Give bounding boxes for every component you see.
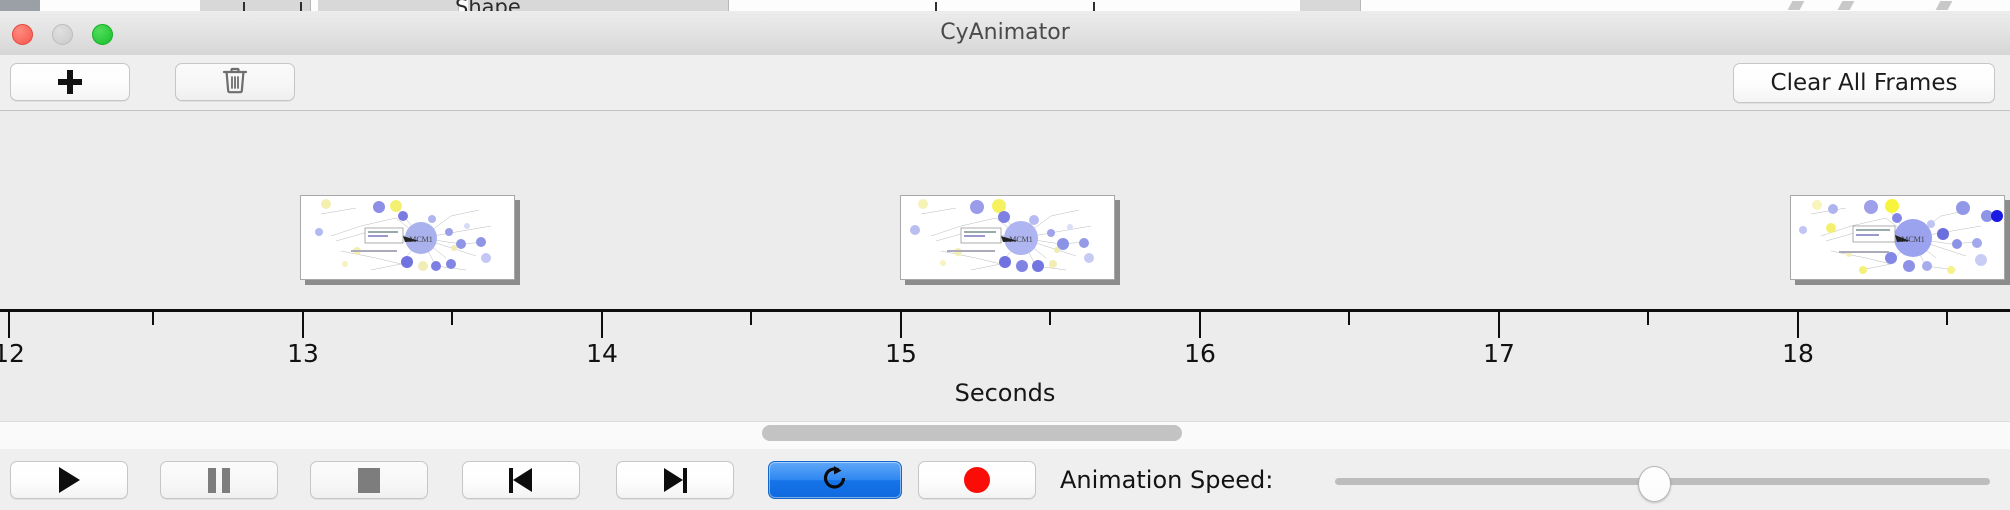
- axis-tick-minor: [1647, 312, 1649, 325]
- stop-button[interactable]: [310, 461, 428, 499]
- axis-tick-minor: [1348, 312, 1350, 325]
- axis-tick-minor: [1049, 312, 1051, 325]
- axis-tick-major: [302, 312, 304, 338]
- timeline-frame-2[interactable]: MCM1: [900, 195, 1120, 283]
- axis-tick-major: [1498, 312, 1500, 338]
- axis-tick-major: [900, 312, 902, 338]
- axis-tick-label: 12: [0, 339, 25, 368]
- background-window-strip: Shape: [0, 0, 2010, 11]
- axis-tick-major: [8, 312, 10, 338]
- frame-thumbnail: MCM1: [1790, 195, 2005, 280]
- axis-tick-label: 16: [1184, 339, 1216, 368]
- cyanimator-window: Shape CyAnimator Clear All Frames: [0, 0, 2010, 510]
- pause-icon: [208, 468, 230, 493]
- plus-icon: [57, 69, 83, 95]
- pause-button[interactable]: [160, 461, 278, 499]
- timeline-panel[interactable]: MCM1: [0, 111, 2010, 421]
- record-button[interactable]: [918, 461, 1036, 499]
- animation-speed-label: Animation Speed:: [1060, 461, 1273, 499]
- axis-title: Seconds: [0, 379, 2010, 407]
- delete-frame-button[interactable]: [175, 63, 295, 101]
- timeline-scrollbar-thumb[interactable]: [762, 425, 1182, 441]
- frames-toolbar: Clear All Frames: [0, 55, 2010, 111]
- record-icon: [964, 467, 990, 493]
- stop-icon: [358, 468, 380, 493]
- axis-tick-major: [1199, 312, 1201, 338]
- animation-speed-slider-thumb[interactable]: [1638, 466, 1671, 502]
- axis-tick-label: 15: [885, 339, 917, 368]
- axis-tick-minor: [152, 312, 154, 325]
- timeline-frame-1[interactable]: MCM1: [300, 195, 520, 283]
- prev-frame-button[interactable]: [462, 461, 580, 499]
- play-icon: [59, 467, 80, 493]
- clear-all-frames-button[interactable]: Clear All Frames: [1733, 63, 1995, 103]
- window-title: CyAnimator: [0, 11, 2010, 55]
- axis-tick-label: 13: [287, 339, 319, 368]
- title-bar[interactable]: CyAnimator: [0, 11, 2010, 56]
- loop-button[interactable]: [768, 461, 902, 499]
- play-button[interactable]: [10, 461, 128, 499]
- axis-tick-minor: [750, 312, 752, 325]
- axis-tick-minor: [1946, 312, 1948, 325]
- skip-back-icon: [509, 468, 533, 493]
- axis-tick-major: [1797, 312, 1799, 338]
- axis-tick-label: 18: [1782, 339, 1814, 368]
- trash-icon: [221, 65, 249, 100]
- frame-thumbnail: MCM1: [900, 195, 1115, 280]
- axis-tick-label: 17: [1483, 339, 1515, 368]
- background-window-label: Shape: [455, 0, 521, 11]
- axis-tick-major: [601, 312, 603, 338]
- add-frame-button[interactable]: [10, 63, 130, 101]
- skip-forward-icon: [663, 468, 687, 493]
- axis-tick-minor: [451, 312, 453, 325]
- next-frame-button[interactable]: [616, 461, 734, 499]
- loop-icon: [820, 463, 850, 497]
- frame-thumbnail: MCM1: [300, 195, 515, 280]
- timeline-frame-3[interactable]: MCM1: [1790, 195, 2010, 283]
- axis-tick-label: 14: [586, 339, 618, 368]
